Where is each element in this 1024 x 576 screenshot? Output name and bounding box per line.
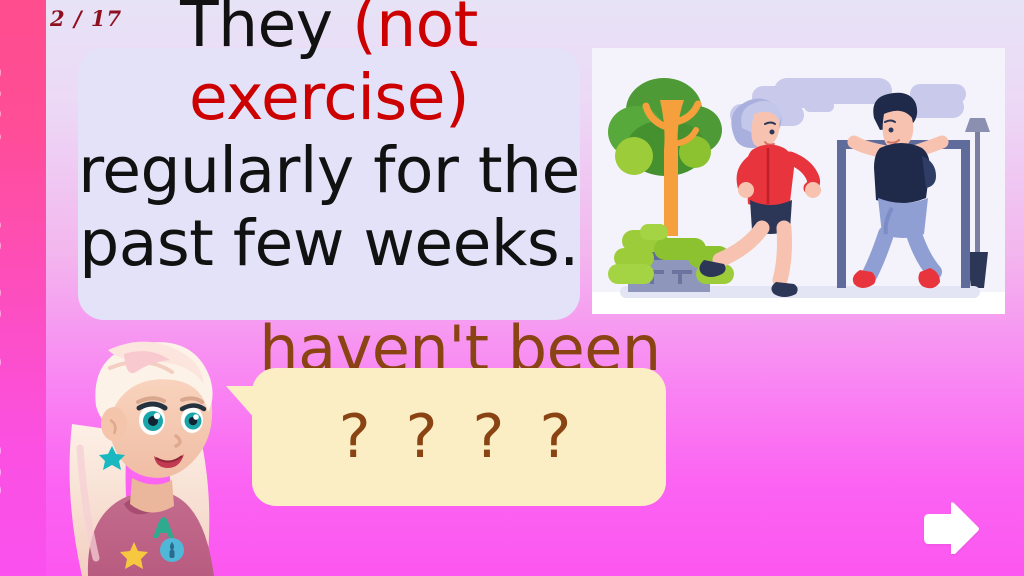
- slide-counter: 2 / 17: [50, 6, 122, 31]
- prompt-panel: [78, 48, 580, 320]
- park-exercise-illustration: [592, 48, 1005, 314]
- question-speech-bubble[interactable]: ? ? ? ?: [252, 368, 666, 506]
- slide-stage: Present Perfect Continuous 2 / 17 They (…: [0, 0, 1024, 576]
- next-button[interactable]: [922, 502, 980, 554]
- mascot-avatar: [46, 328, 268, 576]
- badge-circle-icon: [160, 538, 184, 562]
- lesson-title-rail: Present Perfect Continuous: [0, 0, 46, 576]
- lesson-title: Present Perfect Continuous: [0, 0, 6, 536]
- arrow-right-icon: [922, 502, 980, 554]
- question-marks: ? ? ? ?: [252, 368, 666, 506]
- illustration-card: [592, 48, 1005, 314]
